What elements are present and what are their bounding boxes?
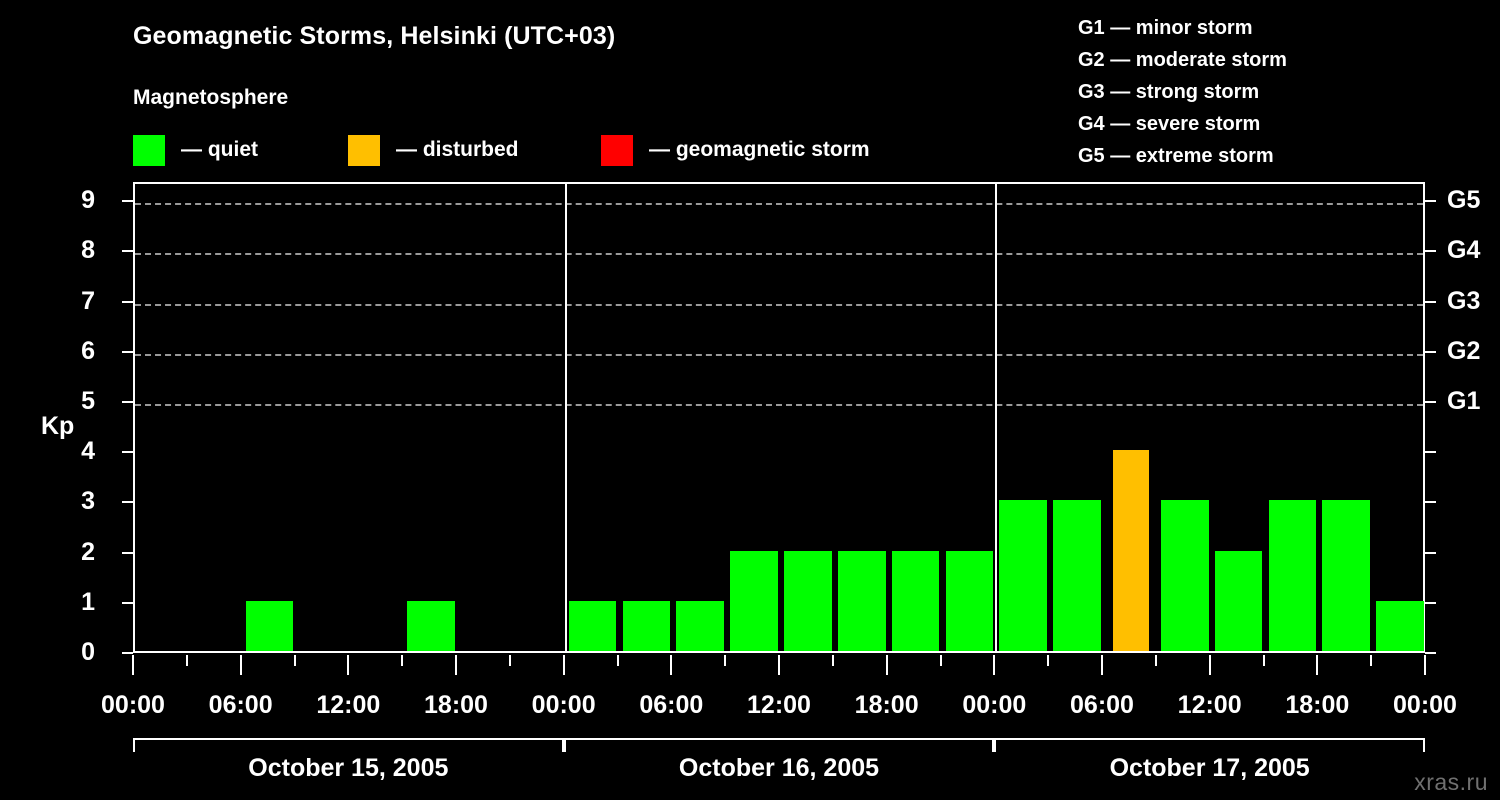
x-tick-major xyxy=(563,655,565,675)
gridline xyxy=(135,354,1423,356)
x-tick-minor xyxy=(1370,655,1372,666)
g-tick-mark xyxy=(1425,351,1436,353)
bar xyxy=(999,500,1047,651)
bar xyxy=(1113,450,1149,651)
y-tick-mark xyxy=(122,401,133,403)
x-tick-minor xyxy=(617,655,619,666)
legend-label: — geomagnetic storm xyxy=(649,138,870,162)
y-tick-label: 1 xyxy=(55,590,95,615)
bar xyxy=(946,551,994,651)
x-tick-major xyxy=(1209,655,1211,675)
gridline xyxy=(135,253,1423,255)
x-tick-major xyxy=(455,655,457,675)
y-tick-label: 5 xyxy=(55,389,95,414)
g-tick-mark xyxy=(1425,552,1436,554)
g-tick-label: G1 xyxy=(1447,389,1480,414)
y-axis-title: Kp xyxy=(41,412,74,441)
x-tick-major xyxy=(1101,655,1103,675)
y-tick-mark xyxy=(122,351,133,353)
bar xyxy=(1376,601,1424,651)
y-tick-mark xyxy=(122,250,133,252)
g-tick-mark xyxy=(1425,250,1436,252)
day-label: October 17, 2005 xyxy=(994,754,1425,783)
g-tick-label: G4 xyxy=(1447,238,1480,263)
bar xyxy=(892,551,940,651)
page-title: Geomagnetic Storms, Helsinki (UTC+03) xyxy=(133,22,615,51)
x-tick-minor xyxy=(294,655,296,666)
gridline xyxy=(135,304,1423,306)
x-tick-major xyxy=(1424,655,1426,675)
legend-entry: — disturbed xyxy=(348,134,519,166)
g-tick-mark xyxy=(1425,451,1436,453)
bar xyxy=(246,601,294,651)
y-tick-label: 0 xyxy=(55,640,95,665)
g-tick-label: G2 xyxy=(1447,339,1480,364)
y-tick-mark xyxy=(122,301,133,303)
legend-entry: — geomagnetic storm xyxy=(601,134,870,166)
y-tick-label: 7 xyxy=(55,289,95,314)
legend-label: — quiet xyxy=(181,138,258,162)
gridline xyxy=(135,404,1423,406)
y-tick-label: 3 xyxy=(55,489,95,514)
x-tick-major xyxy=(886,655,888,675)
g-scale-legend: G1 — minor stormG2 — moderate stormG3 — … xyxy=(1078,12,1287,172)
bar xyxy=(838,551,886,651)
bar xyxy=(676,601,724,651)
bar xyxy=(1161,500,1209,651)
legend-heading: Magnetosphere xyxy=(133,86,288,110)
x-tick-minor xyxy=(509,655,511,666)
y-tick-mark xyxy=(122,501,133,503)
x-tick-minor xyxy=(1263,655,1265,666)
bar xyxy=(1269,500,1317,651)
bar xyxy=(1215,551,1263,651)
g-legend-row: G5 — extreme storm xyxy=(1078,140,1287,172)
y-tick-label: 8 xyxy=(55,238,95,263)
g-legend-row: G4 — severe storm xyxy=(1078,108,1287,140)
x-tick-major xyxy=(1316,655,1318,675)
x-tick-minor xyxy=(1155,655,1157,666)
day-bracket xyxy=(994,738,1425,752)
bar xyxy=(1053,500,1101,651)
bar xyxy=(623,601,671,651)
g-tick-label: G3 xyxy=(1447,289,1480,314)
day-label: October 15, 2005 xyxy=(133,754,564,783)
y-tick-label: 4 xyxy=(55,439,95,464)
x-tick-minor xyxy=(186,655,188,666)
g-tick-mark xyxy=(1425,602,1436,604)
legend-swatch-icon xyxy=(601,135,633,166)
x-tick-major xyxy=(993,655,995,675)
bar xyxy=(569,601,617,651)
y-tick-mark xyxy=(122,652,133,654)
g-tick-mark xyxy=(1425,301,1436,303)
bar xyxy=(784,551,832,651)
y-tick-mark xyxy=(122,451,133,453)
y-tick-label: 6 xyxy=(55,339,95,364)
g-legend-row: G2 — moderate storm xyxy=(1078,44,1287,76)
legend-swatch-icon xyxy=(133,135,165,166)
day-separator xyxy=(565,184,567,651)
plot-area xyxy=(133,182,1425,653)
watermark: xras.ru xyxy=(1414,769,1488,796)
x-tick-label: 00:00 xyxy=(1355,691,1495,720)
x-tick-major xyxy=(240,655,242,675)
y-tick-mark xyxy=(122,602,133,604)
gridline xyxy=(135,203,1423,205)
bar xyxy=(407,601,455,651)
y-tick-mark xyxy=(122,200,133,202)
y-tick-label: 9 xyxy=(55,188,95,213)
x-tick-minor xyxy=(1047,655,1049,666)
day-bracket xyxy=(133,738,564,752)
day-separator xyxy=(995,184,997,651)
x-tick-major xyxy=(132,655,134,675)
x-tick-minor xyxy=(940,655,942,666)
x-tick-major xyxy=(347,655,349,675)
legend-swatch-icon xyxy=(348,135,380,166)
bar xyxy=(1322,500,1370,651)
y-tick-label: 2 xyxy=(55,540,95,565)
g-tick-mark xyxy=(1425,401,1436,403)
x-tick-major xyxy=(778,655,780,675)
plot-inner xyxy=(135,184,1423,651)
day-bracket xyxy=(564,738,995,752)
x-tick-major xyxy=(670,655,672,675)
g-legend-row: G1 — minor storm xyxy=(1078,12,1287,44)
g-legend-row: G3 — strong storm xyxy=(1078,76,1287,108)
y-tick-mark xyxy=(122,552,133,554)
g-tick-mark xyxy=(1425,501,1436,503)
g-tick-mark xyxy=(1425,200,1436,202)
x-tick-minor xyxy=(832,655,834,666)
x-tick-minor xyxy=(401,655,403,666)
g-tick-mark xyxy=(1425,652,1436,654)
bar xyxy=(730,551,778,651)
g-tick-label: G5 xyxy=(1447,188,1480,213)
legend-label: — disturbed xyxy=(396,138,519,162)
x-tick-minor xyxy=(724,655,726,666)
day-label: October 16, 2005 xyxy=(564,754,995,783)
legend-entry: — quiet xyxy=(133,134,258,166)
